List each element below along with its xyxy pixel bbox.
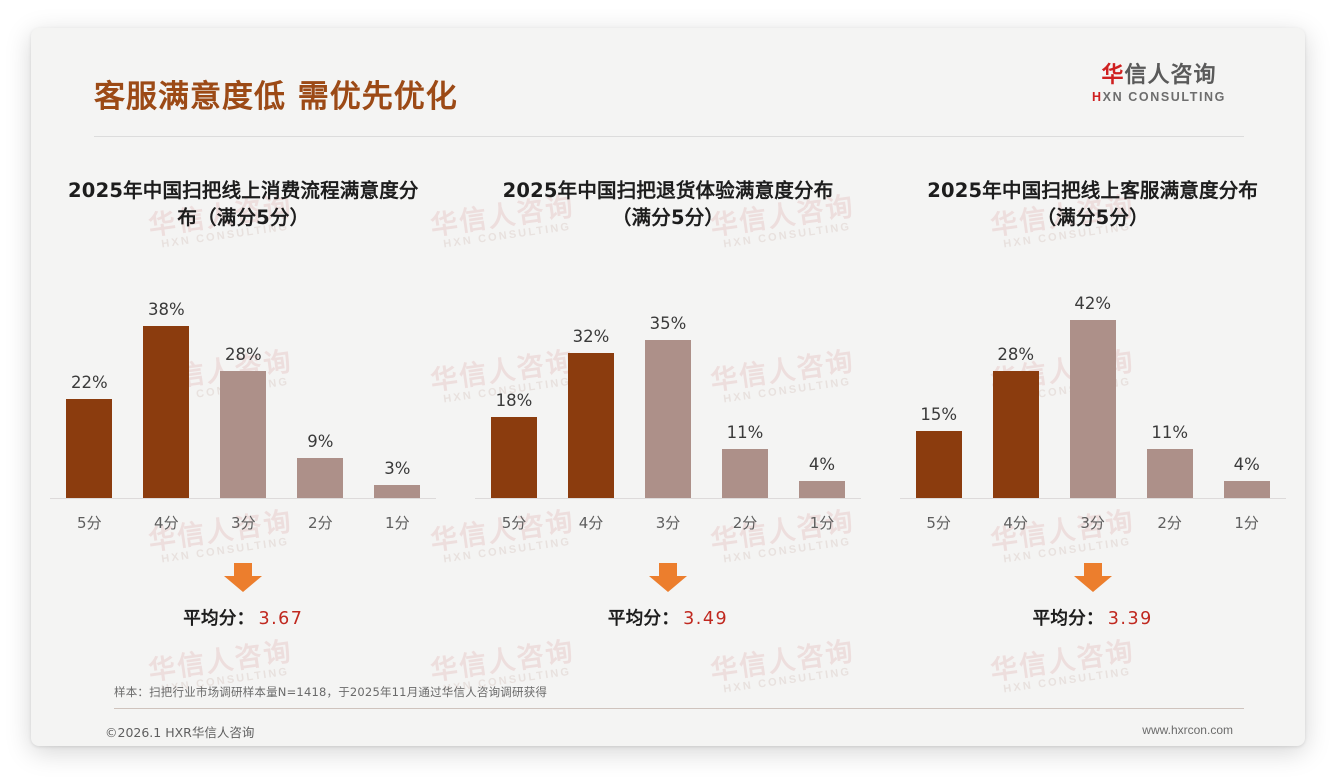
bar[interactable] [1147,449,1193,499]
slide-footer: ©2026.1 HXR华信人咨询 www.hxrcon.com [31,714,1305,746]
bar-value-label: 42% [1074,294,1111,313]
bar[interactable] [568,353,614,499]
x-axis-tick-label: 2分 [718,512,772,533]
bar[interactable] [66,399,112,499]
x-axis-labels: 5分4分3分2分1分 [898,512,1288,533]
chart-title: 2025年中国扫把线上消费流程满意度分布（满分5分） [58,178,428,232]
logo-cn-rest: 信人咨询 [1125,63,1217,88]
footnote-divider [114,708,1244,709]
bar[interactable] [374,485,420,499]
x-axis-tick-label: 2分 [293,512,347,533]
average-score: 平均分：3.67 [183,605,303,630]
x-axis-tick-label: 2分 [1143,512,1197,533]
bar-value-label: 28% [997,345,1034,364]
logo-en-accent: H [1092,90,1103,104]
x-axis-tick-label: 1分 [795,512,849,533]
bar-group: 22%38%28%9%3% [48,294,438,499]
company-logo: 华信人咨询 HXN CONSULTING [1075,63,1243,104]
bar-slot: 35% [641,294,695,499]
bar-slot: 4% [795,294,849,499]
x-axis-tick-label: 3分 [1066,512,1120,533]
logo-chinese-text: 华信人咨询 [1075,63,1243,88]
x-axis-labels: 5分4分3分2分1分 [473,512,863,533]
charts-row: 2025年中国扫把线上消费流程满意度分布（满分5分）22%38%28%9%3%5… [31,178,1305,678]
bar-value-label: 3% [384,459,410,478]
footer-copyright: ©2026.1 HXR华信人咨询 [105,722,254,741]
bar-slot: 32% [564,294,618,499]
x-axis-line [900,498,1286,499]
bar-slot: 38% [139,294,193,499]
x-axis-tick-label: 4分 [139,512,193,533]
chart-title: 2025年中国扫把退货体验满意度分布（满分5分） [483,178,853,232]
logo-en-rest: XN CONSULTING [1103,90,1226,104]
x-axis-tick-label: 1分 [1220,512,1274,533]
bar-value-label: 9% [307,432,333,451]
average-score-label: 平均分： [183,609,254,629]
average-score-value: 3.39 [1108,609,1153,629]
screenshot-root: 华信人咨询HXN CONSULTING华信人咨询HXN CONSULTING华信… [0,0,1340,780]
bar-slot: 18% [487,294,541,499]
bar-slot: 11% [1143,294,1197,499]
x-axis-tick-label: 3分 [641,512,695,533]
bar-value-label: 22% [71,373,108,392]
down-arrow-icon [223,563,263,593]
slide-page: 华信人咨询HXN CONSULTING华信人咨询HXN CONSULTING华信… [31,28,1305,746]
x-axis-tick-label: 5分 [62,512,116,533]
bar[interactable] [1070,320,1116,499]
slide-header: 客服满意度低 需优先优化 华信人咨询 HXN CONSULTING [31,28,1305,136]
bar-slot: 15% [912,294,966,499]
bar[interactable] [143,326,189,499]
footer-website: www.hxrcon.com [1142,723,1233,737]
x-axis-tick-label: 5分 [487,512,541,533]
bar-group: 15%28%42%11%4% [898,294,1288,499]
x-axis-tick-label: 3分 [216,512,270,533]
arrow-wrap [648,563,688,593]
bar[interactable] [1224,481,1270,499]
bar-slot: 28% [216,294,270,499]
page-title: 客服满意度低 需优先优化 [94,71,458,116]
average-score-value: 3.49 [683,609,728,629]
logo-english-text: HXN CONSULTING [1075,90,1243,104]
bar-group: 18%32%35%11%4% [473,294,863,499]
bar-value-label: 32% [573,327,610,346]
bar-value-label: 4% [1234,455,1260,474]
bar-value-label: 4% [809,455,835,474]
bar[interactable] [645,340,691,499]
bar[interactable] [993,371,1039,499]
bar-value-label: 28% [225,345,262,364]
average-score-label: 平均分： [608,609,679,629]
x-axis-tick-label: 5分 [912,512,966,533]
x-axis-labels: 5分4分3分2分1分 [48,512,438,533]
chart-panel-3: 2025年中国扫把线上客服满意度分布（满分5分）15%28%42%11%4%5分… [880,178,1305,678]
chart-plot-area: 22%38%28%9%3% [48,284,438,499]
bar-value-label: 35% [650,314,687,333]
bar-value-label: 11% [727,423,764,442]
x-axis-line [50,498,436,499]
bar[interactable] [297,458,343,499]
source-footnote: 样本：扫把行业市场调研样本量N=1418，于2025年11月通过华信人咨询调研获… [114,684,547,700]
bar[interactable] [722,449,768,499]
bar-slot: 9% [293,294,347,499]
bar[interactable] [799,481,845,499]
x-axis-tick-label: 4分 [564,512,618,533]
bar-slot: 4% [1220,294,1274,499]
x-axis-tick-label: 1分 [370,512,424,533]
bar-slot: 3% [370,294,424,499]
chart-plot-area: 15%28%42%11%4% [898,284,1288,499]
average-score-label: 平均分： [1033,609,1104,629]
bar-slot: 11% [718,294,772,499]
bar-value-label: 11% [1151,423,1188,442]
down-arrow-icon [648,563,688,593]
bar[interactable] [220,371,266,499]
bar-slot: 42% [1066,294,1120,499]
logo-cn-accent: 华 [1101,63,1124,88]
chart-title: 2025年中国扫把线上客服满意度分布（满分5分） [908,178,1278,232]
average-score: 平均分：3.49 [608,605,728,630]
arrow-wrap [223,563,263,593]
bar-slot: 28% [989,294,1043,499]
title-divider [94,136,1244,137]
bar-value-label: 18% [496,391,533,410]
bar-value-label: 15% [920,405,957,424]
average-score: 平均分：3.39 [1033,605,1153,630]
bar-value-label: 38% [148,300,185,319]
x-axis-tick-label: 4分 [989,512,1043,533]
chart-plot-area: 18%32%35%11%4% [473,284,863,499]
arrow-wrap [1073,563,1113,593]
x-axis-line [475,498,861,499]
chart-panel-1: 2025年中国扫把线上消费流程满意度分布（满分5分）22%38%28%9%3%5… [31,178,456,678]
bar-slot: 22% [62,294,116,499]
bar[interactable] [916,431,962,499]
chart-panel-2: 2025年中国扫把退货体验满意度分布（满分5分）18%32%35%11%4%5分… [456,178,881,678]
down-arrow-icon [1073,563,1113,593]
bar[interactable] [491,417,537,499]
average-score-value: 3.67 [258,609,303,629]
